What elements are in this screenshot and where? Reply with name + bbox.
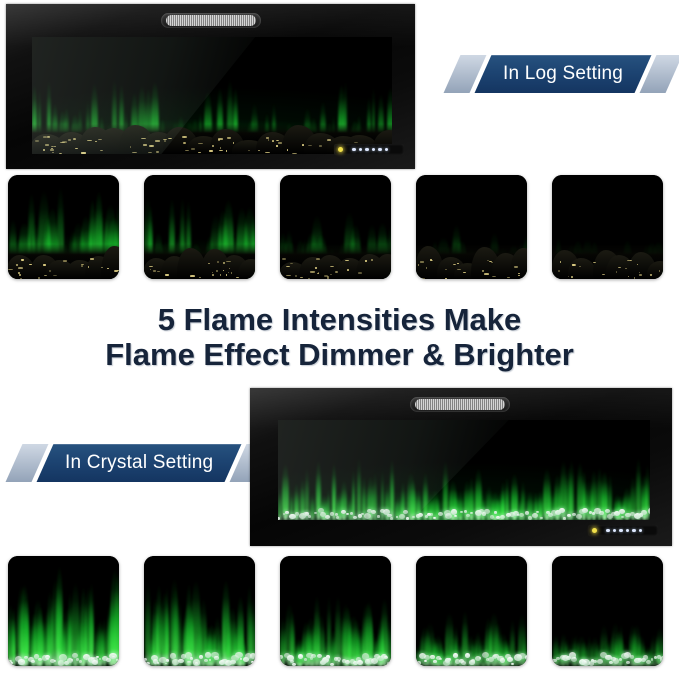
indicator-led[interactable] [613, 529, 617, 533]
crystal-stone [470, 512, 473, 515]
ember-spark [572, 264, 575, 266]
ember-spark [278, 142, 281, 144]
crystal-stone [439, 658, 442, 660]
ember-spark [21, 259, 24, 261]
crystal-stone [326, 655, 330, 659]
crystal-stone [384, 656, 388, 659]
crystal-stone [214, 656, 218, 659]
ember-spark [29, 264, 31, 265]
crystal-stone [387, 662, 391, 666]
crystal-stone [178, 659, 184, 664]
ember-spark [90, 258, 94, 260]
crystal-stone [484, 509, 490, 514]
ember-spark [445, 269, 447, 270]
crystal-bed [8, 650, 119, 667]
crystal-stone [11, 662, 13, 664]
crystal-stone [330, 663, 334, 666]
ember-spark [639, 274, 642, 276]
ember-spark [253, 276, 255, 277]
thumbnail-crystal-intensity-2[interactable] [416, 556, 527, 666]
crystal-stone [567, 514, 571, 517]
ember-spark [445, 278, 447, 279]
ember-spark [231, 272, 232, 274]
thumbnail-log-intensity-2[interactable] [416, 175, 527, 279]
crystal-bed [552, 650, 663, 667]
thumbnail-crystal-intensity-3[interactable] [280, 556, 391, 666]
crystal-stone [584, 661, 586, 663]
ember-spark [212, 145, 214, 147]
log-lump [101, 246, 119, 279]
banner-body: In Crystal Setting [37, 444, 242, 482]
crystal-stone [445, 513, 452, 519]
crystal-stone [418, 513, 423, 517]
crystal-stone [424, 660, 426, 662]
ember-spark [43, 264, 46, 265]
ember-spark [228, 272, 230, 273]
indicator-led[interactable] [639, 529, 643, 533]
crystal-stone [641, 510, 647, 515]
crystal-stone [643, 655, 648, 659]
log-bed [8, 244, 119, 279]
ember-spark [418, 264, 420, 266]
ember-spark [330, 266, 334, 267]
crystal-stone [205, 652, 212, 658]
control-panel-crystal[interactable] [588, 525, 658, 536]
ember-spark [335, 271, 338, 273]
ember-spark [229, 268, 230, 269]
indicator-led[interactable] [365, 148, 369, 152]
banner-in-crystal-setting: In Crystal Setting [14, 444, 264, 482]
ember-spark [292, 153, 296, 154]
crystal-stone [280, 655, 283, 659]
banner-label: In Log Setting [503, 63, 623, 85]
crystal-stone [58, 660, 64, 665]
ember-spark [420, 261, 424, 262]
crystal-stone [525, 511, 530, 515]
crystal-stone [494, 511, 497, 513]
vent-mesh-icon [415, 399, 505, 410]
crystal-stone [490, 515, 495, 519]
crystal-stone [479, 657, 482, 659]
log-bed [280, 244, 391, 279]
crystal-fireplace-unit [250, 388, 672, 546]
indicator-led[interactable] [619, 529, 623, 533]
crystal-stone [71, 659, 74, 661]
thumbnail-log-intensity-5[interactable] [8, 175, 119, 279]
crystal-stone [106, 658, 111, 662]
ember-spark [227, 137, 231, 139]
crystal-stone [597, 659, 603, 664]
ember-spark [317, 273, 318, 274]
log-bed [552, 244, 663, 279]
ember-spark [150, 269, 152, 270]
crystal-stone [519, 513, 524, 517]
ember-spark [463, 272, 466, 273]
indicator-led[interactable] [632, 529, 636, 533]
crystal-stone [170, 653, 176, 658]
crystal-stone [433, 517, 436, 519]
ember-spark [518, 275, 520, 276]
ember-spark [319, 145, 322, 147]
ember-spark [308, 278, 310, 279]
banner-in-log-setting: In Log Setting [452, 55, 674, 93]
crystal-stone [460, 511, 463, 514]
crystal-stone [433, 660, 436, 663]
crystal-stone [31, 660, 35, 663]
crystal-stone [646, 660, 651, 664]
crystal-stone [630, 655, 634, 659]
page-title: 5 Flame Intensities Make Flame Effect Di… [0, 303, 679, 372]
ember-spark [558, 270, 560, 272]
ember-spark [625, 268, 627, 269]
crystal-stone [311, 654, 316, 658]
indicator-led[interactable] [385, 148, 389, 152]
ember-spark [484, 273, 488, 275]
crystal-stone [99, 658, 101, 660]
crystal-stone [304, 658, 307, 661]
ember-spark [209, 150, 213, 152]
ember-spark [217, 261, 218, 263]
log-fireplace-unit [6, 4, 415, 169]
crystal-stone [660, 656, 663, 662]
crystal-stone [559, 508, 565, 513]
crystal-stone [648, 508, 650, 514]
log-bed [416, 244, 527, 279]
crystal-stone [507, 657, 513, 662]
ember-spark [81, 265, 83, 267]
crystal-stone [59, 654, 67, 661]
indicator-led[interactable] [352, 148, 356, 152]
ember-spark [492, 276, 496, 277]
ember-spark [182, 136, 187, 138]
ember-spark [327, 276, 328, 278]
crystal-stone [146, 662, 150, 665]
control-panel-log[interactable] [334, 144, 404, 155]
crystal-stone [166, 659, 170, 662]
fireplace-glass-crystal [278, 420, 650, 520]
crystal-stone [621, 516, 624, 518]
crystal-stone [240, 658, 243, 660]
crystal-stone [576, 514, 582, 519]
crystal-stone [448, 658, 452, 661]
crystal-stone [357, 660, 363, 665]
crystal-stone [250, 653, 255, 658]
crystal-stone [461, 661, 466, 665]
banner-label: In Crystal Setting [65, 452, 213, 474]
heater-vent [410, 397, 510, 412]
crystal-stone [251, 661, 254, 664]
crystal-stone [453, 653, 458, 657]
ember-spark [518, 273, 521, 274]
ember-spark [371, 259, 373, 261]
ember-spark [216, 270, 218, 272]
crystal-stone [599, 511, 603, 515]
ember-spark [514, 266, 518, 268]
log-bed [144, 244, 255, 279]
crystal-stone [540, 517, 543, 519]
ember-spark [627, 260, 630, 261]
crystal-stone [532, 513, 538, 518]
ember-spark [302, 144, 304, 146]
crystal-stone [454, 515, 457, 518]
ember-spark [276, 140, 280, 141]
power-led[interactable] [338, 147, 343, 152]
crystal-stone [451, 509, 458, 515]
ember-spark [63, 260, 67, 262]
crystal-stone [438, 512, 443, 516]
crystal-stone [157, 662, 160, 664]
crystal-stone [79, 660, 82, 663]
crystal-stone [209, 659, 211, 661]
crystal-stone [292, 663, 296, 666]
crystal-bed [280, 650, 391, 667]
ember-spark [272, 140, 274, 142]
indicator-led[interactable] [626, 529, 630, 533]
crystal-stone [417, 661, 421, 665]
heater-vent [161, 13, 261, 28]
crystal-stone [54, 660, 56, 662]
headline-line-1: 5 Flame Intensities Make [0, 303, 679, 338]
ember-spark [153, 270, 156, 272]
crystal-stone [204, 659, 208, 662]
crystal-stone [235, 652, 242, 658]
indicator-led[interactable] [359, 148, 363, 152]
indicator-led[interactable] [606, 529, 610, 533]
crystal-stone [536, 511, 539, 514]
crystal-stone [511, 663, 513, 665]
crystal-stone [496, 516, 500, 519]
crystal-stone [195, 662, 198, 665]
crystal-stone [144, 658, 147, 661]
crystal-stone [500, 515, 505, 519]
crystal-stone [525, 655, 527, 660]
ember-spark [38, 277, 39, 279]
ember-spark [198, 152, 200, 153]
crystal-stone [605, 509, 610, 513]
crystal-stone [116, 659, 118, 661]
crystal-stone [464, 510, 467, 513]
ember-spark [183, 142, 186, 144]
crystal-stone [626, 661, 630, 664]
crystal-bed [144, 650, 255, 667]
thumbnail-crystal-intensity-5[interactable] [8, 556, 119, 666]
crystal-stone [465, 653, 470, 658]
crystal-stone [199, 655, 204, 659]
ember-spark [276, 145, 278, 146]
indicator-led[interactable] [372, 148, 376, 152]
banner-body: In Log Setting [475, 55, 652, 93]
crystal-stone [92, 660, 98, 665]
vent-mesh-icon [166, 15, 256, 26]
crystal-stone [582, 508, 588, 513]
ember-spark [191, 148, 195, 150]
crystal-stone [187, 661, 190, 664]
crystal-stone [619, 509, 625, 514]
thumbnail-log-intensity-4[interactable] [144, 175, 255, 279]
ember-spark [265, 152, 270, 153]
crystal-stone [46, 658, 49, 660]
crystal-stone [651, 658, 654, 660]
thumbnail-crystal-intensity-1[interactable] [552, 556, 663, 666]
crystal-stone [430, 655, 434, 659]
ember-spark [282, 258, 286, 260]
headline-line-2: Flame Effect Dimmer & Brighter [0, 338, 679, 373]
crystal-stone [563, 517, 566, 519]
ember-spark [616, 271, 617, 273]
ember-spark [218, 139, 220, 141]
ember-spark [49, 270, 51, 272]
thumbnail-log-intensity-3[interactable] [280, 175, 391, 279]
crystal-bed [416, 650, 527, 667]
ember-spark [426, 267, 427, 269]
crystal-stone [338, 660, 340, 662]
ember-spark [286, 266, 290, 268]
thumbnail-crystal-intensity-4[interactable] [144, 556, 255, 666]
indicator-led[interactable] [378, 148, 382, 152]
ember-spark [358, 272, 362, 274]
ember-spark [310, 271, 315, 272]
crystal-stone [430, 513, 433, 515]
ember-spark [659, 270, 660, 271]
ember-spark [650, 274, 652, 275]
crystal-stone [466, 514, 470, 517]
crystal-stone [574, 657, 576, 659]
thumbnail-log-intensity-1[interactable] [552, 175, 663, 279]
crystal-stone [500, 658, 505, 662]
crystal-stone [165, 663, 167, 665]
ember-spark [268, 139, 269, 141]
fireplace-glass-log [32, 37, 392, 154]
power-led[interactable] [592, 528, 597, 533]
ember-spark [233, 142, 234, 143]
